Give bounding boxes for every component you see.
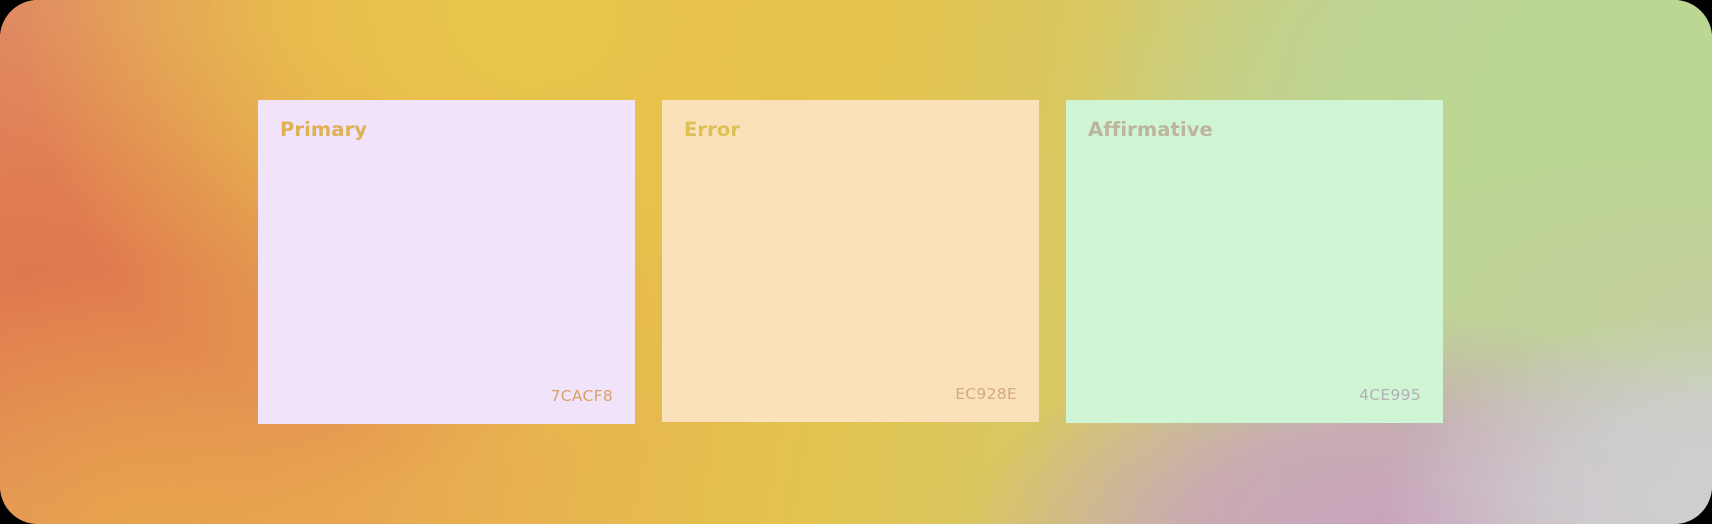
swatch-hex-value: EC928E: [684, 385, 1017, 404]
swatch-card-affirmative[interactable]: Affirmative 4CE995: [1066, 100, 1443, 423]
swatch-title: Primary: [280, 118, 613, 141]
swatch-card-error[interactable]: Error EC928E: [662, 100, 1039, 422]
palette-canvas: Primary 7CACF8 Error EC928E Affirmative …: [0, 0, 1712, 524]
swatch-row: Primary 7CACF8 Error EC928E Affirmative …: [258, 100, 1443, 424]
swatch-title: Error: [684, 118, 1017, 141]
swatch-title: Affirmative: [1088, 118, 1421, 141]
swatch-hex-value: 7CACF8: [280, 387, 613, 406]
swatch-hex-value: 4CE995: [1088, 386, 1421, 405]
swatch-card-primary[interactable]: Primary 7CACF8: [258, 100, 635, 424]
